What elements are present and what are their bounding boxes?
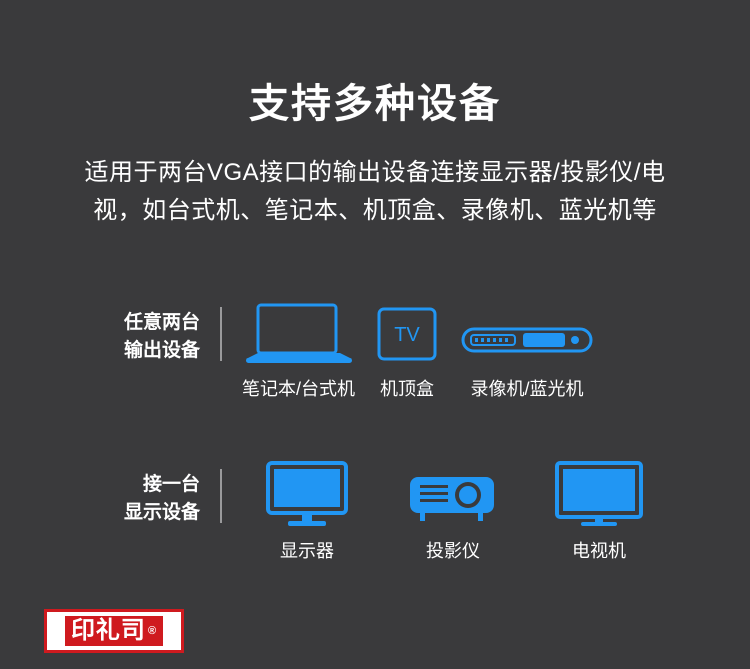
device-row-display: 接一台 显示设备 显示器 — [0, 457, 750, 563]
device-item-laptop: 笔记本/台式机 — [242, 295, 355, 401]
row-label-display: 接一台 显示设备 — [70, 457, 200, 528]
page-subtitle: 适用于两台VGA接口的输出设备连接显示器/投影仪/电 视，如台式机、笔记本、机顶… — [0, 154, 750, 231]
dvd-player-icon — [459, 301, 595, 367]
device-row-output: 任意两台 输出设备 笔记本/台式机 — [0, 295, 750, 401]
projector-icon-wrap — [404, 457, 502, 529]
device-item-set-top-box: TV 机顶盒 — [371, 295, 443, 401]
product-feature-banner: 支持多种设备 适用于两台VGA接口的输出设备连接显示器/投影仪/电 视，如台式机… — [0, 0, 750, 669]
set-top-box-icon-wrap: TV — [371, 295, 443, 367]
tv-icon — [553, 459, 645, 529]
row-divider-output — [220, 307, 222, 361]
set-top-box-icon: TV — [371, 301, 443, 367]
row-divider-display — [220, 469, 222, 523]
caption-laptop: 笔记本/台式机 — [242, 375, 355, 401]
device-items-display: 显示器 — [242, 457, 680, 563]
brand-logo-text: 印礼司 — [71, 618, 146, 644]
tv-icon-wrap — [553, 457, 645, 529]
caption-tv: 电视机 — [572, 537, 626, 563]
caption-set-top-box: 机顶盒 — [380, 375, 434, 401]
device-rows: 任意两台 输出设备 笔记本/台式机 — [0, 295, 750, 563]
subtitle-line-1: 适用于两台VGA接口的输出设备连接显示器/投影仪/电 — [16, 154, 734, 192]
row-label-output: 任意两台 输出设备 — [70, 295, 200, 366]
device-item-monitor: 显示器 — [242, 457, 372, 563]
device-item-projector: 投影仪 — [388, 457, 518, 563]
subtitle-line-2: 视，如台式机、笔记本、机顶盒、录像机、蓝光机等 — [16, 192, 734, 230]
dvd-player-icon-wrap — [459, 295, 595, 367]
page-title: 支持多种设备 — [0, 0, 750, 128]
row-label-display-line-1: 接一台 — [70, 471, 200, 500]
registered-mark-icon: ® — [148, 625, 157, 637]
device-item-tv: 电视机 — [534, 457, 664, 563]
monitor-icon-wrap — [264, 457, 350, 529]
set-top-box-inner-label: TV — [394, 324, 420, 346]
monitor-icon — [264, 459, 350, 529]
device-items-output: 笔记本/台式机 TV 机顶盒 — [242, 295, 611, 401]
caption-monitor: 显示器 — [280, 537, 334, 563]
device-item-dvd-player: 录像机/蓝光机 — [459, 295, 595, 401]
caption-projector: 投影仪 — [426, 537, 480, 563]
row-label-output-line-2: 输出设备 — [70, 337, 200, 366]
row-label-display-line-2: 显示设备 — [70, 499, 200, 528]
brand-logo-text-block: 印礼司® — [65, 616, 163, 646]
row-label-output-line-1: 任意两台 — [70, 309, 200, 338]
caption-dvd-player: 录像机/蓝光机 — [471, 375, 584, 401]
laptop-icon — [244, 301, 354, 367]
brand-logo: 印礼司® — [44, 609, 184, 653]
projector-icon — [404, 459, 502, 529]
laptop-icon-wrap — [244, 295, 354, 367]
